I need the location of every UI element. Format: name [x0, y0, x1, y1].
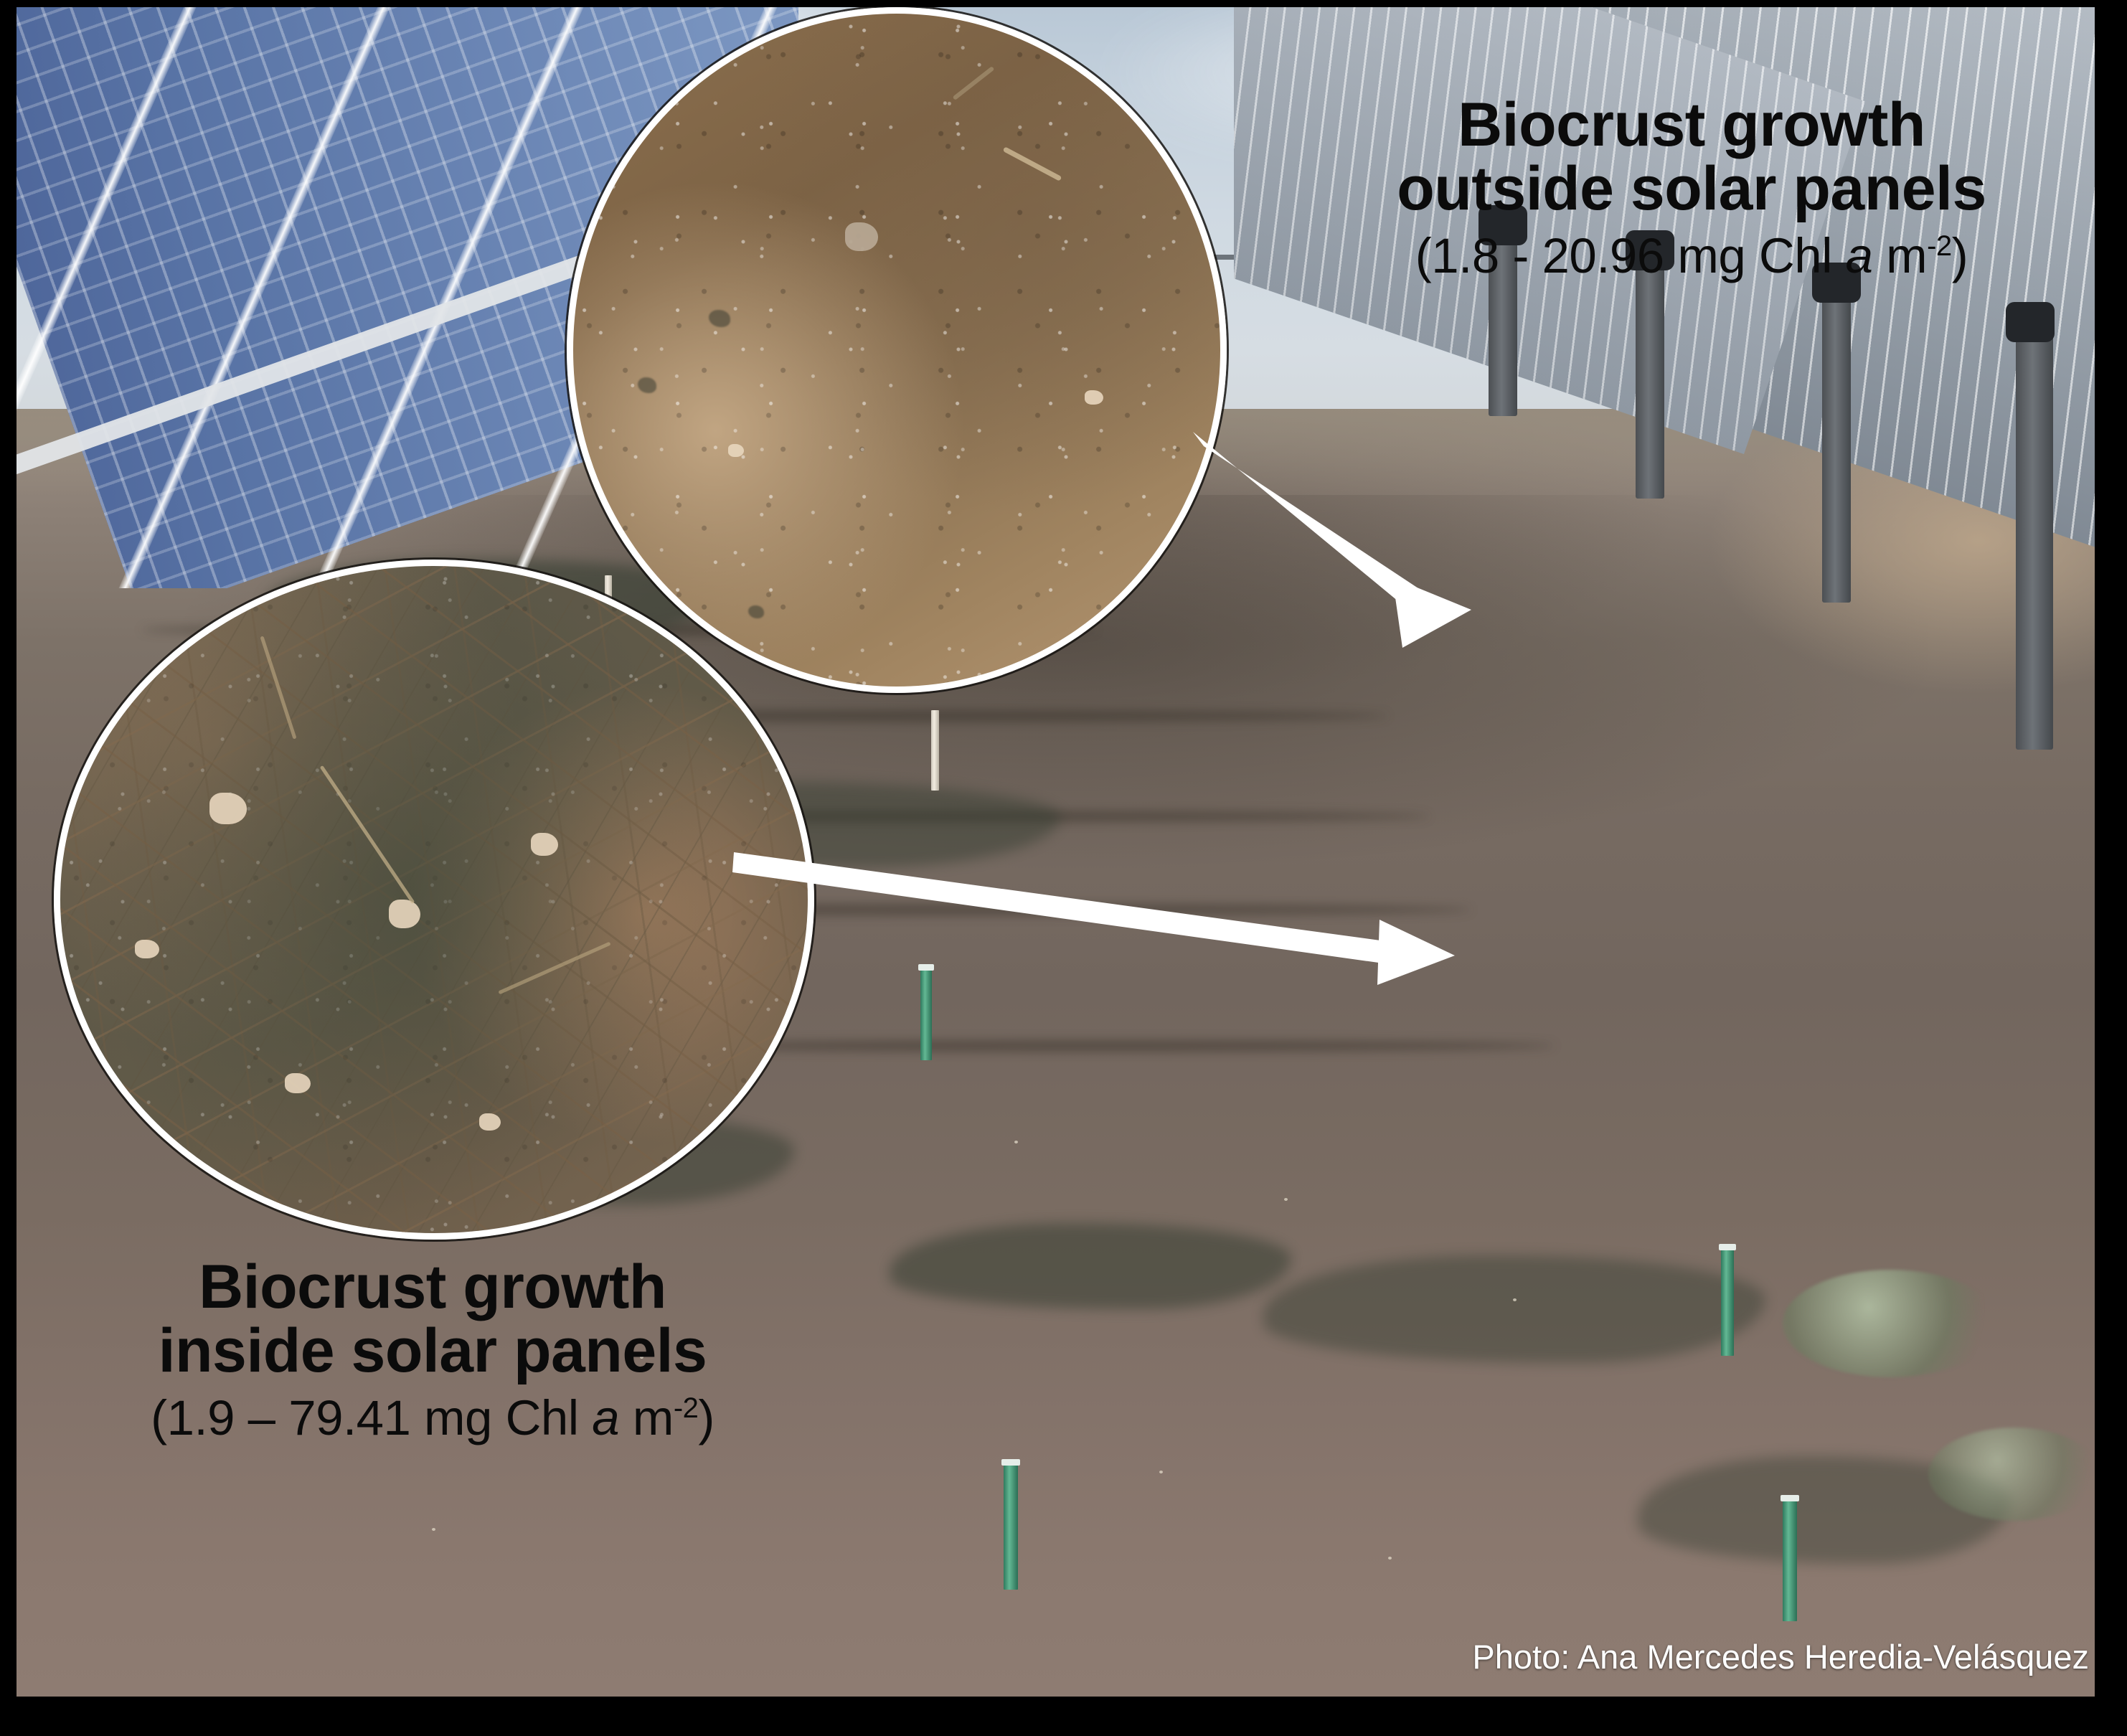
biocrust-stone-fragment [531, 833, 558, 856]
inset-inside-biocrust[interactable] [54, 560, 814, 1240]
panel-support-post [1636, 262, 1664, 499]
soil-dark-fragment [638, 377, 656, 393]
biocrust-dark-core [60, 566, 808, 1233]
panel-support-post [2016, 334, 2053, 750]
biocrust-stone-fragment [209, 793, 247, 824]
callout-inside-range: (1.9 – 79.41 mg Chl a m-2) [31, 1392, 834, 1444]
callout-outside-solar-panels: Biocrust growth outside solar panels (1.… [1301, 93, 2083, 282]
soil-pebble [1085, 390, 1103, 405]
callout-outside-line2: outside solar panels [1301, 157, 2083, 221]
biocrust-patch [890, 1223, 1291, 1309]
plot-marker-stake [931, 710, 939, 791]
panel-support-post [1822, 294, 1851, 603]
plot-marker-stake [920, 968, 932, 1060]
callout-inside-solar-panels: Biocrust growth inside solar panels (1.9… [31, 1255, 834, 1444]
vegetation-clump [1783, 1270, 1998, 1377]
soil-pebble [845, 222, 878, 251]
vegetation-clump [1928, 1428, 2095, 1521]
plot-marker-stake [1783, 1499, 1797, 1621]
soil-dark-fragment [709, 310, 730, 327]
tracker-drive-hub [2006, 302, 2055, 342]
biocrust-patch [1263, 1255, 1765, 1363]
callout-inside-line2: inside solar panels [31, 1319, 834, 1383]
photo-credit: Photo: Ana Mercedes Heredia-Velásquez [1472, 1637, 2089, 1676]
biocrust-stone-fragment [479, 1113, 501, 1131]
callout-inside-line1: Biocrust growth [31, 1255, 834, 1319]
plot-marker-stake [1721, 1248, 1734, 1356]
plot-marker-stake [1004, 1463, 1018, 1590]
figure-root: Biocrust growth outside solar panels (1.… [0, 0, 2127, 1736]
field-photograph: Biocrust growth outside solar panels (1.… [16, 7, 2095, 1697]
callout-outside-range: (1.8 - 20.96 mg Chl a m-2) [1301, 230, 2083, 282]
biocrust-stone-fragment [285, 1073, 311, 1093]
biocrust-stone-fragment [389, 900, 420, 928]
callout-outside-line1: Biocrust growth [1301, 93, 2083, 157]
biocrust-stone-fragment [135, 940, 159, 958]
